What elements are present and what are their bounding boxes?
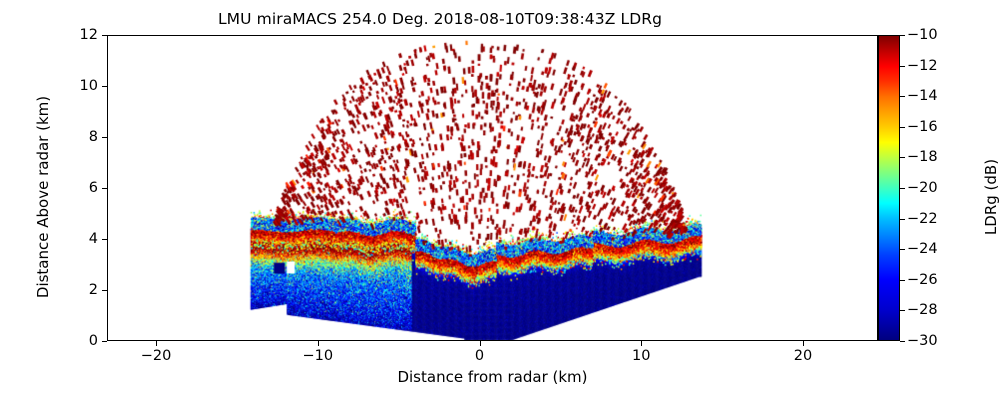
plot-area [107, 35, 878, 341]
x-tick [156, 341, 157, 346]
y-axis-label: Distance Above radar (km) [34, 44, 52, 350]
colorbar-tick [900, 157, 905, 158]
chart-title: LMU miraMACS 254.0 Deg. 2018-08-10T09:38… [0, 10, 880, 28]
y-tick-label: 4 [0, 231, 107, 247]
x-tick [318, 341, 319, 346]
colorbar-tick-label: −24 [907, 241, 938, 257]
y-tick-label: 10 [0, 78, 107, 94]
ldrg-scatter-canvas [108, 36, 877, 340]
x-tick-label: −20 [141, 348, 172, 364]
colorbar-tick [900, 188, 905, 189]
colorbar-tick [900, 35, 905, 36]
colorbar-tick-label: −22 [907, 211, 938, 227]
y-tick-label: 8 [0, 129, 107, 145]
colorbar-tick-label: −16 [907, 119, 938, 135]
colorbar-tick [900, 280, 905, 281]
x-axis-label: Distance from radar (km) [107, 368, 878, 386]
colorbar-tick [900, 219, 905, 220]
colorbar-tick-label: −10 [907, 27, 938, 43]
colorbar-tick-label: −14 [907, 88, 938, 104]
x-tick-label: 0 [475, 348, 484, 364]
x-tick [641, 341, 642, 346]
colorbar-tick [900, 127, 905, 128]
y-tick-label: 12 [0, 27, 107, 43]
colorbar-tick [900, 249, 905, 250]
x-tick-label: 10 [632, 348, 650, 364]
colorbar-tick [900, 96, 905, 97]
colorbar-tick-label: −12 [907, 58, 938, 74]
colorbar-tick-label: −28 [907, 302, 938, 318]
x-tick-label: 20 [794, 348, 812, 364]
radar-cross-section-figure: LMU miraMACS 254.0 Deg. 2018-08-10T09:38… [0, 0, 1000, 400]
x-tick-label: −10 [302, 348, 333, 364]
colorbar-tick [900, 341, 905, 342]
colorbar-tick [900, 66, 905, 67]
colorbar-tick-label: −18 [907, 149, 938, 165]
colorbar-label: LDRg (dB) [982, 44, 1000, 350]
y-tick-label: 6 [0, 180, 107, 196]
colorbar-gradient [879, 36, 899, 340]
y-tick-label: 0 [0, 333, 107, 349]
x-tick [803, 341, 804, 346]
colorbar-tick-label: −30 [907, 333, 938, 349]
colorbar-tick-label: −20 [907, 180, 938, 196]
y-tick-label: 2 [0, 282, 107, 298]
x-tick [480, 341, 481, 346]
colorbar-tick [900, 310, 905, 311]
colorbar [878, 35, 900, 341]
colorbar-tick-label: −26 [907, 272, 938, 288]
